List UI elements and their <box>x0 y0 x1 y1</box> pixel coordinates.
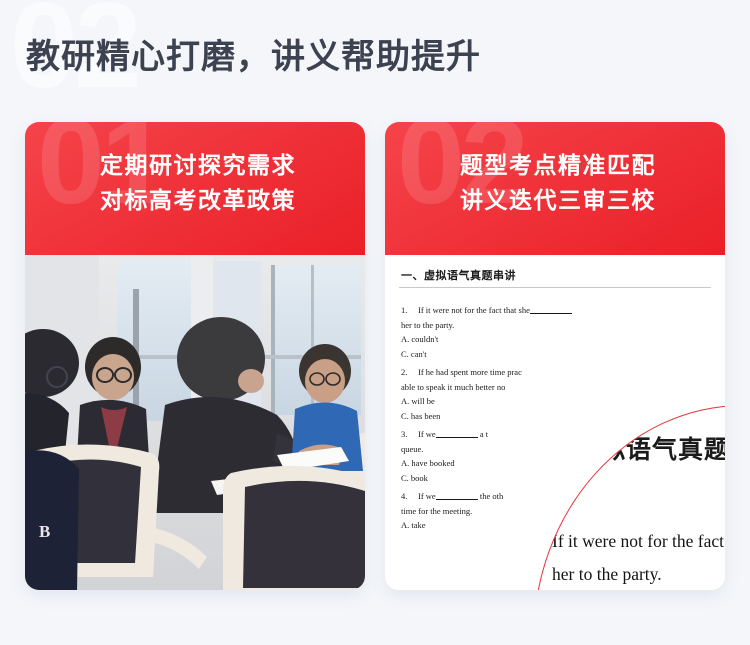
card-1-heading-line-1: 定期研讨探究需求 <box>100 148 296 183</box>
page-header: 02 教研精心打磨，讲义帮助提升 <box>0 0 750 112</box>
promo-page: 02 教研精心打磨，讲义帮助提升 01 定期研讨探究需求 对标高考改革政策 <box>0 0 750 645</box>
meeting-photo-illustration: B <box>25 255 365 590</box>
question-line-2: her to the party. <box>552 558 725 590</box>
card-1-heading: 定期研讨探究需求 对标高考改革政策 <box>100 148 296 218</box>
question-line-1-tail: a t <box>480 429 488 439</box>
feature-card-1[interactable]: 01 定期研讨探究需求 对标高考改革政策 <box>25 122 365 590</box>
magnifier-heading-dash-icon <box>544 443 566 451</box>
question-line-1: If it were not for the fact that <box>552 525 725 558</box>
question-number: 4. <box>401 489 415 504</box>
question-number: 2. <box>401 365 415 380</box>
answer-blank <box>436 490 478 500</box>
handout-question-1: 1. If it were not for the fact that she … <box>401 303 701 361</box>
card-2-heading-line-1: 题型考点精准匹配 <box>460 148 656 183</box>
question-number: 3. <box>401 427 415 442</box>
question-line-2: able to speak it much better no <box>401 380 701 395</box>
option-a: A. couldn't <box>401 332 701 347</box>
card-1-heading-line-2: 对标高考改革政策 <box>100 183 296 218</box>
svg-text:B: B <box>39 522 50 541</box>
magnifier-question-1: 1. If it were not for the fact that her … <box>552 492 725 590</box>
question-line-2: her to the party. <box>401 318 701 333</box>
handout-section-heading: 一、虚拟语气真题串讲 <box>401 267 516 283</box>
card-2-heading-line-2: 讲义迭代三审三校 <box>460 183 656 218</box>
magnifier-section-heading: 虚拟语气真题串讲 <box>574 430 725 466</box>
answer-blank <box>436 428 478 438</box>
option-c: C. can't <box>401 347 701 362</box>
question-number: 1. <box>401 303 415 318</box>
question-line-1: If it were not for the fact that she <box>418 305 530 315</box>
magnifier-lens: 虚拟语气真题串讲 1. If it were not for the fact … <box>533 405 725 590</box>
handout-document: 一、虚拟语气真题串讲 1. If it were not for the fac… <box>385 255 725 590</box>
question-body: If it were not for the fact that her to … <box>552 525 725 590</box>
handout-page: 一、虚拟语气真题串讲 1. If it were not for the fac… <box>385 255 725 590</box>
page-title: 教研精心打磨，讲义帮助提升 <box>26 36 481 78</box>
answer-blank <box>530 304 572 314</box>
card-2-heading: 题型考点精准匹配 讲义迭代三审三校 <box>460 148 656 218</box>
card-1-header: 01 定期研讨探究需求 对标高考改革政策 <box>25 122 365 255</box>
question-body: If it were not for the fact that she her… <box>401 305 701 361</box>
handout-divider <box>399 287 711 288</box>
meeting-photo: B <box>25 255 365 590</box>
card-2-header: 02 题型考点精准匹配 讲义迭代三审三校 <box>385 122 725 255</box>
feature-card-2[interactable]: 02 题型考点精准匹配 讲义迭代三审三校 一、虚拟语气真题串讲 1. If it… <box>385 122 725 590</box>
question-line-1-tail: the oth <box>480 491 503 501</box>
question-line-1: If he had spent more time prac <box>418 367 522 377</box>
question-number: 1. <box>552 492 580 525</box>
question-line-1: If we <box>418 491 436 501</box>
question-line-1: If we <box>418 429 436 439</box>
magnifier-content: 虚拟语气真题串讲 1. If it were not for the fact … <box>533 405 725 590</box>
